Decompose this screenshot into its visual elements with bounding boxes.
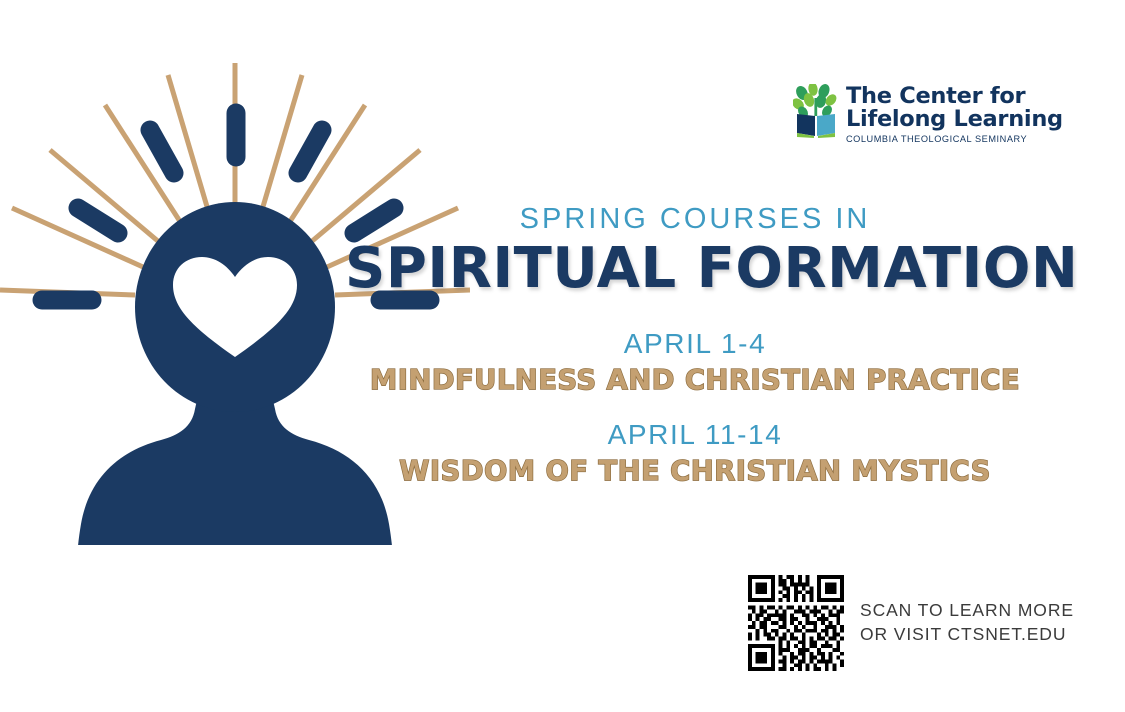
- course-item: APRIL 11-14 WISDOM OF THE CHRISTIAN MYST…: [330, 421, 1060, 486]
- qr-code-icon[interactable]: [748, 575, 844, 671]
- page-title: SPIRITUAL FORMATION: [345, 240, 1045, 298]
- qr-caption-line-1: SCAN TO LEARN MORE: [860, 599, 1074, 623]
- qr-caption-line-2: OR VISIT CTSNET.EDU: [860, 623, 1074, 647]
- course-date: APRIL 1-4: [330, 330, 1060, 358]
- headline-block: SPRING COURSES IN SPIRITUAL FORMATION: [345, 205, 1045, 298]
- course-title: WISDOM OF THE CHRISTIAN MYSTICS: [330, 457, 1060, 486]
- tree-book-icon: [793, 84, 839, 138]
- qr-block: SCAN TO LEARN MORE OR VISIT CTSNET.EDU: [748, 575, 1074, 671]
- logo-line-1: The Center for: [846, 85, 1063, 108]
- qr-caption: SCAN TO LEARN MORE OR VISIT CTSNET.EDU: [860, 599, 1074, 646]
- logo-subtitle: COLUMBIA THEOLOGICAL SEMINARY: [846, 134, 1063, 144]
- logo-line-2: Lifelong Learning: [846, 108, 1063, 131]
- headline-kicker: SPRING COURSES IN: [345, 205, 1045, 234]
- course-list: APRIL 1-4 MINDFULNESS AND CHRISTIAN PRAC…: [330, 330, 1060, 486]
- poster-canvas: The Center for Lifelong Learning COLUMBI…: [0, 0, 1125, 712]
- course-date: APRIL 11-14: [330, 421, 1060, 449]
- course-item: APRIL 1-4 MINDFULNESS AND CHRISTIAN PRAC…: [330, 330, 1060, 395]
- brand-logo: The Center for Lifelong Learning COLUMBI…: [793, 84, 1025, 146]
- course-title: MINDFULNESS AND CHRISTIAN PRACTICE: [330, 366, 1060, 395]
